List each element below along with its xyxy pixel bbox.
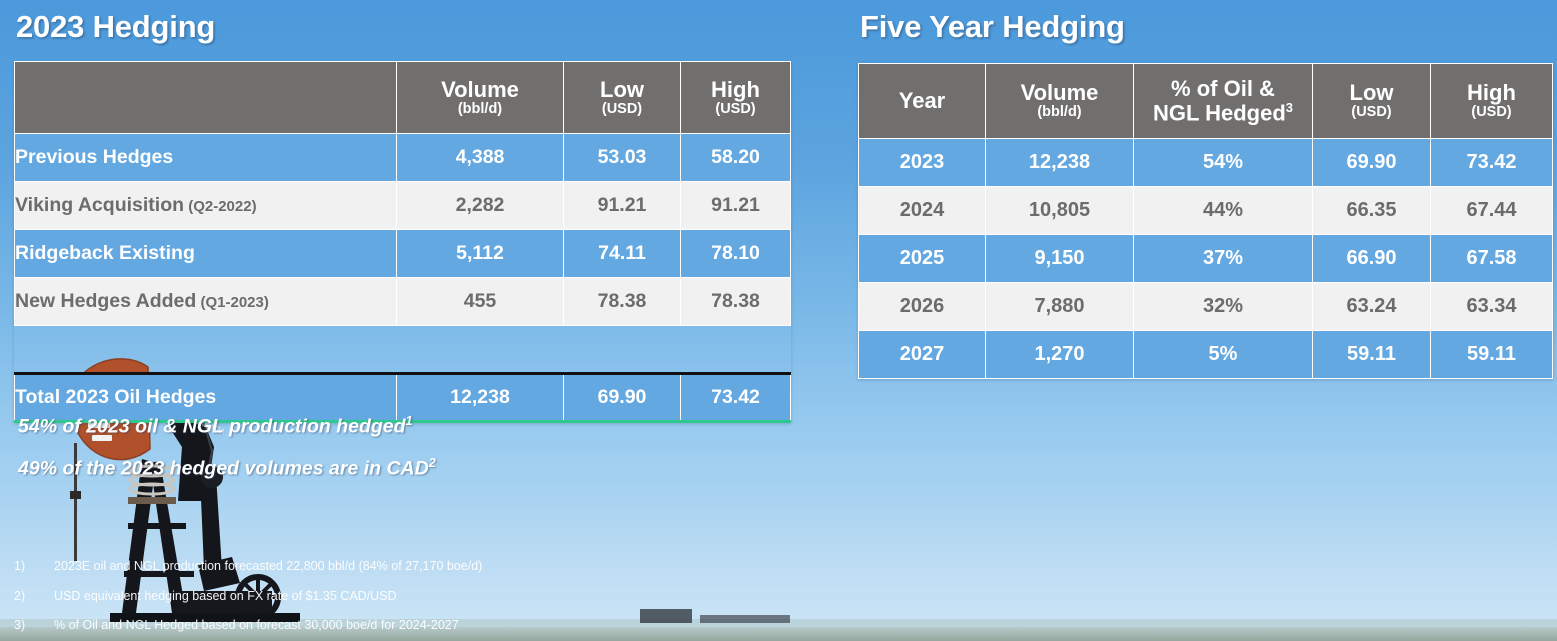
cell-year: 2027 (859, 331, 986, 379)
cell-low: 74.11 (564, 230, 681, 278)
th-2023-low: Low (USD) (564, 62, 681, 134)
table-row: Ridgeback Existing 5,112 74.11 78.10 (15, 230, 791, 278)
row-label-qualifier: (Q1-2023) (196, 294, 269, 311)
cell-volume: 1,270 (986, 331, 1134, 379)
cell-year: 2023 (859, 139, 986, 187)
highlight-footnote-marker-1: 1 (406, 414, 413, 428)
cell-low: 69.90 (1313, 139, 1431, 187)
footnote-text: % of Oil and NGL Hedged based on forecas… (54, 619, 459, 632)
highlight-line-2: 49% of the 2023 hedged volumes are in CA… (18, 457, 436, 479)
th-high-sub: (USD) (681, 102, 790, 118)
row-label-text: Viking Acquisition (15, 194, 184, 216)
th-low-sub: (USD) (1313, 105, 1430, 121)
footnote-item: 3) % of Oil and NGL Hedged based on fore… (14, 619, 634, 632)
th-low-main: Low (1313, 81, 1430, 105)
table-row: 2025 9,150 37% 66.90 67.58 (859, 235, 1553, 283)
table-five-year-hedging: Year Volume (bbl/d) % of Oil & NGL Hedge… (858, 63, 1553, 379)
th-pct-line2-text: NGL Hedged (1153, 100, 1286, 125)
table-row: Viking Acquisition (Q2-2022) 2,282 91.21… (15, 182, 791, 230)
page-title-2023-hedging: 2023 Hedging (16, 9, 215, 45)
cell-volume: 2,282 (397, 182, 564, 230)
cell-volume: 5,112 (397, 230, 564, 278)
table-2023-body: Previous Hedges 4,388 53.03 58.20 Viking… (15, 134, 791, 422)
th-5yr-year: Year (859, 64, 986, 139)
highlight-statements: 54% of 2023 oil & NGL production hedged1… (18, 415, 436, 499)
highlight-text-1: 54% of 2023 oil & NGL production hedged (18, 416, 406, 438)
cell-label: Previous Hedges (15, 134, 397, 182)
table-five-year-body: 2023 12,238 54% 69.90 73.42 2024 10,805 … (859, 139, 1553, 379)
cell-year: 2024 (859, 187, 986, 235)
footnote-text: 2023E oil and NGL production forecasted … (54, 560, 482, 573)
table-spacer-row (15, 326, 791, 374)
cell-high: 67.58 (1431, 235, 1553, 283)
cell-total-low: 69.90 (564, 374, 681, 422)
spacer-cell (681, 326, 791, 374)
footnotes-list: 1) 2023E oil and NGL production forecast… (14, 560, 634, 641)
cell-high: 67.44 (1431, 187, 1553, 235)
th-pct-line1: % of Oil & (1134, 77, 1312, 101)
table-2023-header-row: Volume (bbl/d) Low (USD) High (USD) (15, 62, 791, 134)
th-high-main: High (681, 78, 790, 102)
highlight-line-1: 54% of 2023 oil & NGL production hedged1 (18, 415, 436, 437)
row-label-qualifier: (Q2-2022) (184, 198, 257, 215)
highlight-footnote-marker-2: 2 (429, 456, 436, 470)
cell-label: Viking Acquisition (Q2-2022) (15, 182, 397, 230)
cell-volume: 7,880 (986, 283, 1134, 331)
table-row: 2026 7,880 32% 63.24 63.34 (859, 283, 1553, 331)
th-volume-sub: (bbl/d) (986, 105, 1133, 121)
cell-high: 73.42 (1431, 139, 1553, 187)
th-volume-sub: (bbl/d) (397, 102, 563, 118)
row-label-text: Ridgeback Existing (15, 242, 195, 264)
table-five-year-header-row: Year Volume (bbl/d) % of Oil & NGL Hedge… (859, 64, 1553, 139)
footnote-item: 2) USD equivalent hedging based on FX ra… (14, 590, 634, 603)
table-row: 2024 10,805 44% 66.35 67.44 (859, 187, 1553, 235)
spacer-cell (564, 326, 681, 374)
cell-pct: 44% (1134, 187, 1313, 235)
footnote-item: 1) 2023E oil and NGL production forecast… (14, 560, 634, 573)
cell-low: 53.03 (564, 134, 681, 182)
th-volume-main: Volume (986, 81, 1133, 105)
table-row: 2023 12,238 54% 69.90 73.42 (859, 139, 1553, 187)
cell-high: 78.38 (681, 278, 791, 326)
cell-year: 2025 (859, 235, 986, 283)
cell-high: 78.10 (681, 230, 791, 278)
footnote-number: 3) (14, 619, 54, 632)
th-high-main: High (1431, 81, 1552, 105)
cell-label: Ridgeback Existing (15, 230, 397, 278)
cell-pct: 54% (1134, 139, 1313, 187)
th-high-sub: (USD) (1431, 105, 1552, 121)
row-label-text: New Hedges Added (15, 290, 196, 312)
th-pct-footnote-marker: 3 (1286, 100, 1293, 115)
cell-low: 78.38 (564, 278, 681, 326)
cell-high: 58.20 (681, 134, 791, 182)
cell-volume: 4,388 (397, 134, 564, 182)
cell-volume: 455 (397, 278, 564, 326)
th-5yr-pct-hedged: % of Oil & NGL Hedged3 (1134, 64, 1313, 139)
cell-volume: 10,805 (986, 187, 1134, 235)
page-title-five-year-hedging: Five Year Hedging (860, 9, 1125, 45)
cell-year: 2026 (859, 283, 986, 331)
th-pct-line2: NGL Hedged3 (1134, 101, 1312, 125)
table-2023-header: Volume (bbl/d) Low (USD) High (USD) (15, 62, 791, 134)
th-2023-volume: Volume (bbl/d) (397, 62, 564, 134)
th-5yr-low: Low (USD) (1313, 64, 1431, 139)
cell-volume: 9,150 (986, 235, 1134, 283)
row-label-text: Previous Hedges (15, 146, 173, 168)
th-year-main: Year (859, 89, 985, 113)
th-low-main: Low (564, 78, 680, 102)
cell-low: 59.11 (1313, 331, 1431, 379)
cell-high: 63.34 (1431, 283, 1553, 331)
th-volume-main: Volume (397, 78, 563, 102)
th-5yr-high: High (USD) (1431, 64, 1553, 139)
table-five-year-header: Year Volume (bbl/d) % of Oil & NGL Hedge… (859, 64, 1553, 139)
th-low-sub: (USD) (564, 102, 680, 118)
table-row: Previous Hedges 4,388 53.03 58.20 (15, 134, 791, 182)
cell-pct: 32% (1134, 283, 1313, 331)
footnote-number: 2) (14, 590, 54, 603)
cell-volume: 12,238 (986, 139, 1134, 187)
table-row: 2027 1,270 5% 59.11 59.11 (859, 331, 1553, 379)
cell-pct: 5% (1134, 331, 1313, 379)
cell-low: 63.24 (1313, 283, 1431, 331)
cell-high: 91.21 (681, 182, 791, 230)
footnote-number: 1) (14, 560, 54, 573)
cell-total-high: 73.42 (681, 374, 791, 422)
table-row: New Hedges Added (Q1-2023) 455 78.38 78.… (15, 278, 791, 326)
cell-label: New Hedges Added (Q1-2023) (15, 278, 397, 326)
th-5yr-volume: Volume (bbl/d) (986, 64, 1134, 139)
footnote-text: USD equivalent hedging based on FX rate … (54, 590, 397, 603)
cell-pct: 37% (1134, 235, 1313, 283)
cell-low: 66.35 (1313, 187, 1431, 235)
cell-low: 91.21 (564, 182, 681, 230)
highlight-text-2: 49% of the 2023 hedged volumes are in CA… (18, 458, 429, 480)
spacer-cell (15, 326, 397, 374)
th-2023-blank (15, 62, 397, 134)
table-2023-hedging: Volume (bbl/d) Low (USD) High (USD) Prev… (14, 61, 791, 423)
spacer-cell (397, 326, 564, 374)
th-2023-high: High (USD) (681, 62, 791, 134)
cell-low: 66.90 (1313, 235, 1431, 283)
cell-high: 59.11 (1431, 331, 1553, 379)
